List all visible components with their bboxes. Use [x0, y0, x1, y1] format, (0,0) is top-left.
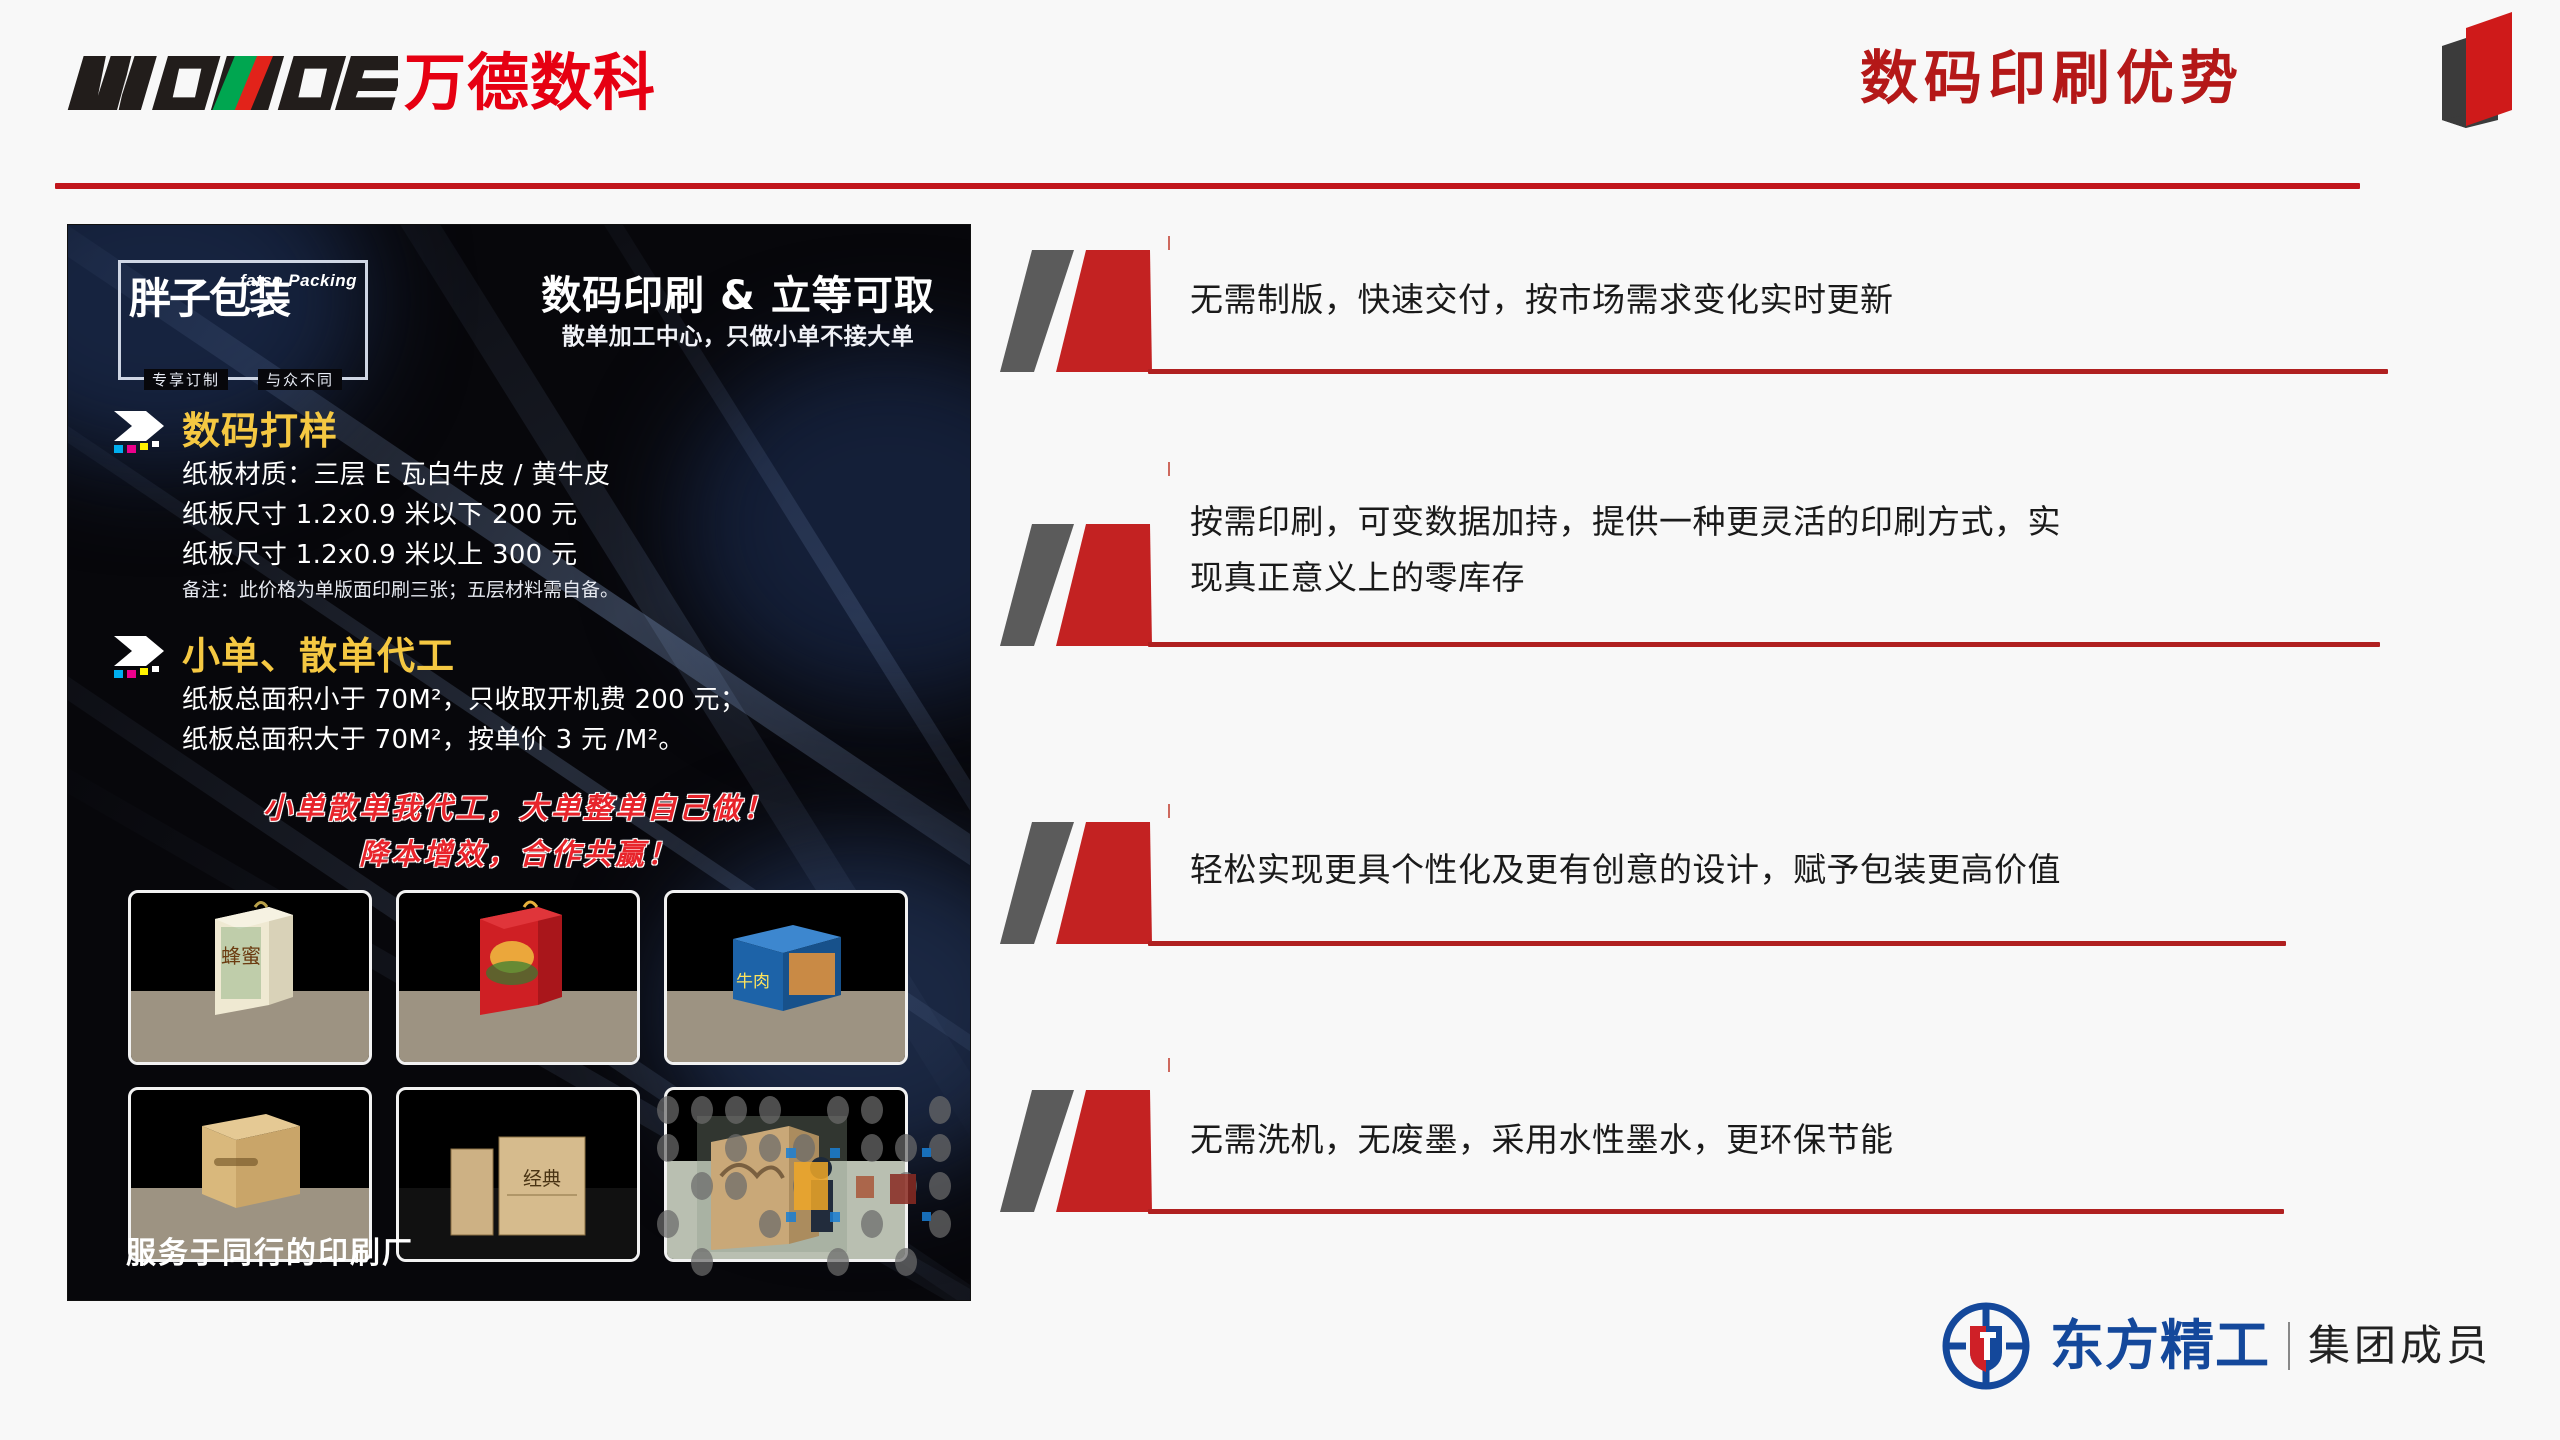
fatso-packing-logo: fatso Packing 胖子包装 专享订制 与众不同 — [118, 260, 368, 380]
tick-mark — [1168, 1058, 1170, 1072]
product-photo: 蜂蜜 — [128, 890, 372, 1065]
footer-brand: 东方精工 集团成员 — [1940, 1300, 2492, 1392]
tagline-left: 专享订制 — [144, 369, 228, 390]
red-food-gift-box-icon — [462, 895, 574, 1015]
section-title: 小单、散单代工 — [182, 625, 455, 680]
advantage-underline — [1148, 1209, 2284, 1214]
svg-text:蜂蜜: 蜂蜜 — [221, 944, 261, 968]
poster-subheadline: 散单加工中心，只做小单不接大单 — [528, 317, 948, 351]
promo-poster: fatso Packing 胖子包装 专享订制 与众不同 数码印刷 & 立等可取… — [68, 225, 970, 1300]
slogan-line-2: 降本增效，合作共赢！ — [68, 831, 970, 877]
footer-company-name: 东方精工 — [2050, 1316, 2270, 1376]
double-slant-bar-icon — [1000, 250, 1185, 380]
double-slant-bar-icon — [1000, 524, 1185, 654]
advantage-text: 现真正意义上的零库存 — [1190, 552, 1525, 604]
brand-chinese-name: 万德数科 — [404, 48, 656, 118]
oriental-precision-shield-icon — [1940, 1300, 2032, 1392]
folded-book-icon — [2420, 8, 2532, 136]
poster-section-digital-proofing: 数码打样 纸板材质：三层 E 瓦白牛皮 / 黄牛皮 纸板尺寸 1.2x0.9 米… — [112, 400, 942, 605]
footer-divider — [2288, 1322, 2290, 1370]
section-line: 纸板尺寸 1.2x0.9 米以上 300 元 — [182, 535, 942, 575]
section-title: 数码打样 — [182, 400, 338, 455]
page-title: 数码印刷优势 — [1860, 42, 2244, 114]
tagline-right: 与众不同 — [258, 369, 342, 390]
tick-mark — [1168, 236, 1170, 250]
fatso-packing-logo-tagline: 专享订制 与众不同 — [121, 369, 365, 390]
header-divider — [55, 183, 2360, 189]
section-heading: 小单、散单代工 — [112, 625, 942, 680]
svg-text:经典: 经典 — [523, 1168, 561, 1190]
brand-logo: 万德数科 — [62, 48, 656, 118]
section-line: 纸板材质：三层 E 瓦白牛皮 / 黄牛皮 — [182, 455, 942, 495]
advantage-text: 无需制版，快速交付，按市场需求变化实时更新 — [1190, 274, 1894, 326]
advantage-text: 按需印刷，可变数据加持，提供一种更灵活的印刷方式，实 — [1190, 496, 2061, 548]
double-slant-bar-icon — [1000, 1090, 1185, 1220]
poster-headline: 数码印刷 & 立等可取 — [528, 263, 948, 321]
cmyk-arrow-icon — [112, 409, 168, 453]
honey-gift-box-icon: 蜂蜜 — [195, 897, 305, 1015]
section-heading: 数码打样 — [112, 400, 942, 455]
dot-matrix-decoration-icon — [650, 1090, 970, 1300]
product-photo: 牛肉 — [664, 890, 908, 1065]
advantage-underline — [1148, 642, 2380, 647]
poster-footer-text: 服务于同行的印刷厂 — [126, 1228, 414, 1272]
advantage-text: 无需洗机，无废墨，采用水性墨水，更环保节能 — [1190, 1114, 1894, 1166]
section-line: 纸板总面积大于 70M²，按单价 3 元 /M²。 — [182, 720, 942, 760]
wonder-wordmark-icon — [62, 48, 398, 118]
cmyk-arrow-icon — [112, 634, 168, 678]
beef-dumpling-carton-icon: 牛肉 — [723, 911, 849, 1015]
poster-slogan: 小单散单我代工，大单整单自己做！ 降本增效，合作共赢！ — [68, 785, 970, 877]
fatso-packing-logo-cn: 胖子包装 — [129, 277, 363, 321]
kraft-carton-icon — [188, 1104, 312, 1212]
section-line: 纸板总面积小于 70M²，只收取开机费 200 元； — [182, 680, 942, 720]
slide-root: 万德数科 数码印刷优势 fatso Packing 胖子包装 专享订制 与众不同 — [0, 0, 2560, 1440]
slogan-line-1: 小单散单我代工，大单整单自己做！ — [68, 785, 970, 831]
section-line: 纸板尺寸 1.2x0.9 米以下 200 元 — [182, 495, 942, 535]
advantage-underline — [1148, 941, 2286, 946]
poster-section-small-order-oem: 小单、散单代工 纸板总面积小于 70M²，只收取开机费 200 元； 纸板总面积… — [112, 625, 942, 760]
tick-mark — [1168, 462, 1170, 476]
svg-text:牛肉: 牛肉 — [736, 972, 770, 992]
double-slant-bar-icon — [1000, 822, 1185, 952]
section-note: 备注：此价格为单版面印刷三张；五层材料需自备。 — [182, 575, 942, 605]
classic-kraft-box-icon: 经典 — [443, 1129, 593, 1239]
footer-membership-label: 集团成员 — [2308, 1320, 2492, 1372]
product-photo: 经典 — [396, 1087, 640, 1262]
product-photo — [396, 890, 640, 1065]
tick-mark — [1168, 804, 1170, 818]
advantage-text: 轻松实现更具个性化及更有创意的设计，赋予包装更高价值 — [1190, 844, 2061, 896]
advantage-underline — [1148, 369, 2388, 374]
